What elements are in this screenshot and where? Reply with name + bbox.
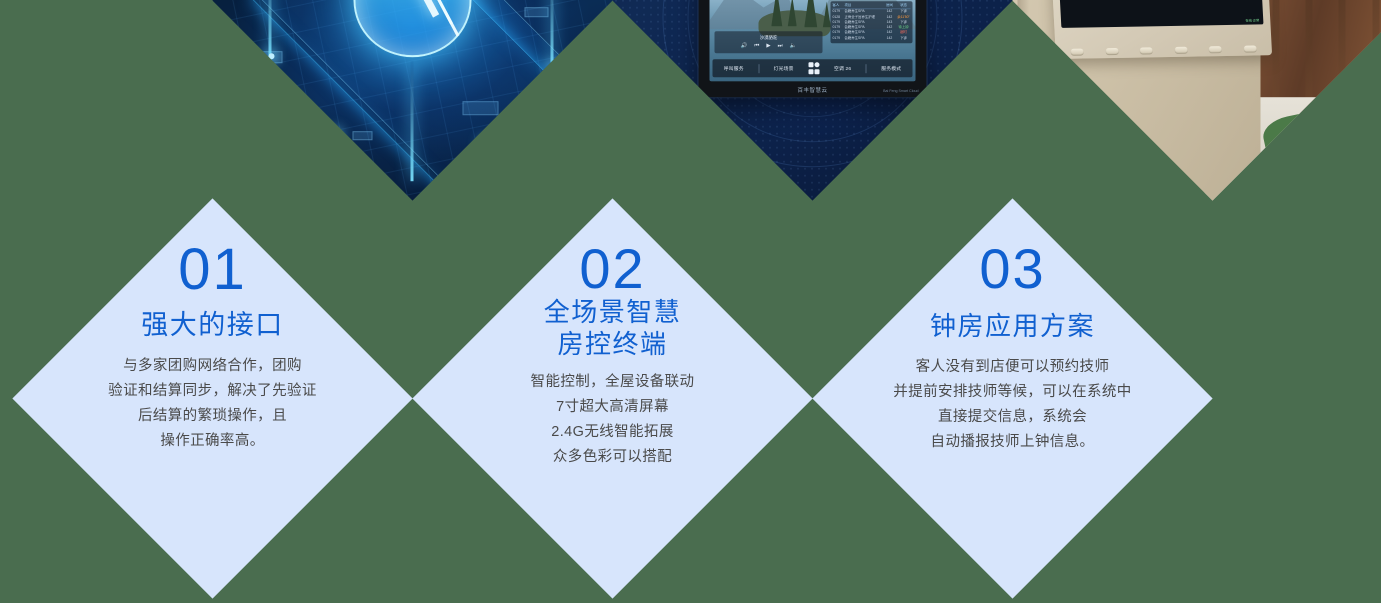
cell-status: 余11'50" — [897, 14, 911, 19]
bottom-bar-item-service[interactable]: 服务模式 — [881, 64, 901, 71]
card-title: 钟房应用方案 — [930, 311, 1095, 343]
th-room: 房间 — [884, 2, 896, 7]
cell-guest: 0179 — [833, 9, 844, 14]
card-description: 与多家团购网络合作，团购 验证和结算同步，解决了先验证 后结算的繁琐操作，且 操… — [108, 353, 317, 453]
cell-item: 会籍养生SPA — [845, 35, 883, 40]
feature-card-03[interactable]: 03 钟房应用方案 客人没有到店便可以预约技师 并提前安排技师等候，可以在系统中… — [812, 198, 1212, 598]
panel-column-b[interactable]: 正在用房维护状态预留状态免打扰房更多技师排班请点击 — [1182, 0, 1261, 16]
glow-node — [269, 52, 275, 58]
table-row: 0179会籍养生SPA142下钟 — [833, 9, 911, 14]
light-beam-right — [551, 0, 554, 71]
wall-panel-image-inner: ☰ 智能控制 启 钟CALL钟停 钟加钟结 钟 设定控制钟房控制场景控制 存储专… — [1013, 0, 1381, 201]
panel-status-text: 在线·正常 — [1109, 16, 1262, 24]
panel-left-column[interactable]: 启 钟CALL钟停 钟加钟结 钟 — [1059, 0, 1107, 25]
card-description: 客人没有到店便可以预约技师 并提前安排技师等候，可以在系统中 直接提交信息，系统… — [893, 354, 1131, 454]
card-description: 智能控制，全屋设备联动 7寸超大高清屏幕 2.4G无线智能拓展 众多色彩可以搭配 — [531, 370, 695, 470]
glow-node — [333, 131, 339, 137]
th-item: 项目 — [845, 2, 883, 7]
cell-room: 142 — [884, 35, 896, 40]
th-guest: 客人 — [833, 2, 844, 7]
cell-room: 142 — [884, 9, 896, 14]
room-status-table: 客人 项目 房间 状态 0179会籍养生SPA142下钟0128正骨全子宫养生护… — [831, 1, 913, 43]
table-row: 0128正骨全子宫养生护理142余11'50" — [833, 14, 911, 19]
cell-status: 下钟 — [897, 19, 911, 24]
feature-card-01[interactable]: 01 强大的接口 与多家团购网络合作，团购 验证和结算同步，解决了先验证 后结算… — [12, 198, 412, 598]
table-row: 0179会籍养生SPA142下钟 — [833, 35, 911, 40]
divider — [866, 63, 867, 72]
table-body: 0179会籍养生SPA142下钟0128正骨全子宫养生护理142余11'50"0… — [833, 9, 911, 41]
cell-room: 142 — [884, 14, 896, 19]
divider — [758, 63, 759, 72]
card-title: 强大的接口 — [141, 309, 284, 342]
light-beam-bottom — [411, 61, 414, 181]
cell-item: 会籍养生SPA — [845, 19, 883, 24]
media-player-bar[interactable]: 沙漠骆驼 🔊 ⏮ ▶ ⏭ 🔈 — [715, 31, 823, 53]
cell-status: 下钟 — [897, 35, 911, 40]
media-controls[interactable]: 🔊 ⏮ ▶ ⏭ 🔈 — [741, 42, 797, 49]
bottom-bar-item-light[interactable]: 灯光场景 — [774, 64, 794, 71]
panel-right-area: 设定控制钟房控制场景控制 存储专家技师排钟房·结束SPA会籍查看当前房间查看空房… — [1105, 0, 1262, 24]
volume-icon[interactable]: 🔊 — [741, 42, 748, 49]
th-status: 状态 — [897, 3, 911, 8]
image-diamond-tablet: CSIZMO 22:35 — [612, 0, 1012, 201]
cell-item: 会籍养生SPA — [845, 25, 883, 30]
mute-icon[interactable]: 🔈 — [790, 42, 797, 49]
cell-item: 会籍养生SPA — [845, 9, 883, 14]
table-row: 0179会籍养生SPA143下钟 — [833, 19, 911, 24]
image-diamond-wall-panel: ☰ 智能控制 启 钟CALL钟停 钟加钟结 钟 设定控制钟房控制场景控制 存储专… — [1012, 0, 1381, 201]
cell-room: 142 — [884, 25, 896, 30]
security-image-inner — [213, 0, 613, 201]
table-row: 0179会籍养生SPA142待上钟 — [833, 25, 911, 30]
panel-option-grid: 存储专家技师排钟房·结束SPA会籍查看当前房间查看空房间 正在用房维护状态预留状… — [1105, 0, 1261, 17]
cell-guest: 0179 — [833, 19, 844, 24]
bottom-bar-item-ac[interactable]: 空调 26 — [834, 64, 851, 71]
wall-control-panel[interactable]: ☰ 智能控制 启 钟CALL钟停 钟加钟结 钟 设定控制钟房控制场景控制 存储专… — [1049, 0, 1272, 58]
card-03-content: 03 钟房应用方案 客人没有到店便可以预约技师 并提前安排技师等候，可以在系统中… — [813, 199, 1213, 599]
light-beam-left — [269, 0, 272, 60]
image-diamond-security — [212, 0, 612, 201]
play-icon[interactable]: ▶ — [766, 42, 770, 49]
diamond-layout-stage: CSIZMO 22:35 — [0, 0, 1381, 603]
cell-guest: 0179 — [833, 35, 844, 40]
panel-hardware-buttons[interactable] — [1060, 45, 1268, 56]
hw-button[interactable] — [1243, 45, 1256, 52]
card-02-content: 02 全场景智慧 房控终端 智能控制，全屋设备联动 7寸超大高清屏幕 2.4G无… — [413, 199, 813, 599]
cell-room: 142 — [884, 30, 896, 35]
tablet-logo-sub: Bai Feng Smart Cloud — [883, 88, 918, 92]
tablet-device[interactable]: CSIZMO 22:35 — [699, 0, 927, 97]
table-header: 客人 项目 房间 状态 — [833, 3, 911, 9]
hw-button[interactable] — [1174, 46, 1187, 53]
table-row: 0179会籍养生SPA142超时 — [833, 30, 911, 35]
cell-room: 143 — [884, 19, 896, 24]
tablet-bottom-bar[interactable]: 呼叫服务 灯光场景 空调 26 服务模式 — [713, 58, 913, 76]
hw-button[interactable] — [1071, 48, 1084, 55]
card-title: 全场景智慧 房控终端 — [544, 297, 682, 360]
next-icon[interactable]: ⏭ — [778, 42, 783, 49]
panel-column-a[interactable]: 存储专家技师排钟房·结束SPA会籍查看当前房间查看空房间 — [1105, 0, 1184, 17]
card-01-content: 01 强大的接口 与多家团购网络合作，团购 验证和结算同步，解决了先验证 后结算… — [13, 199, 413, 599]
prev-icon[interactable]: ⏮ — [754, 42, 759, 49]
panel-screen[interactable]: ☰ 智能控制 启 钟CALL钟停 钟加钟结 钟 设定控制钟房控制场景控制 存储专… — [1056, 0, 1263, 27]
cell-item: 会籍养生SPA — [845, 30, 883, 35]
glow-node — [483, 141, 489, 147]
feature-card-02[interactable]: 02 全场景智慧 房控终端 智能控制，全屋设备联动 7寸超大高清屏幕 2.4G无… — [412, 198, 812, 598]
cell-status: 待上钟 — [897, 25, 911, 30]
cell-guest: 0179 — [833, 30, 844, 35]
cell-status: 超时 — [897, 30, 911, 35]
bottom-bar-item-call[interactable]: 呼叫服务 — [724, 64, 744, 71]
panel-body: 启 钟CALL钟停 钟加钟结 钟 设定控制钟房控制场景控制 存储专家技师排钟房·… — [1059, 0, 1261, 25]
cell-guest: 0128 — [833, 14, 844, 19]
cell-status: 下钟 — [897, 9, 911, 14]
card-number: 03 — [979, 241, 1045, 297]
media-track-title: 沙漠骆驼 — [760, 34, 778, 40]
cell-guest: 0179 — [833, 25, 844, 30]
hw-button[interactable] — [1209, 45, 1222, 52]
hw-button[interactable] — [1105, 47, 1118, 54]
cell-item: 正骨全子宫养生护理 — [845, 14, 883, 19]
tablet-screen[interactable]: 22:35 SPA6层 15°C 11/24 客人 项目 房间 状态 — [710, 0, 916, 81]
tablet-image-inner: CSIZMO 22:35 — [613, 0, 1013, 201]
apps-grid-icon[interactable] — [808, 62, 820, 74]
glow-node — [551, 63, 557, 69]
card-number: 01 — [178, 241, 247, 299]
hw-button[interactable] — [1140, 47, 1153, 54]
card-number: 02 — [579, 241, 645, 297]
